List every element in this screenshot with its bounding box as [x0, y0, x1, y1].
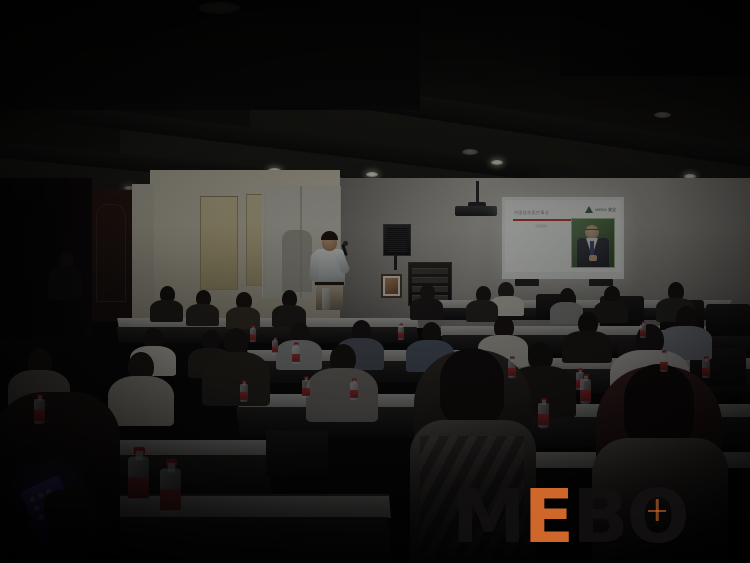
water-bottle-11: [660, 350, 668, 372]
water-bottle-foreground-1: [128, 447, 149, 504]
phone-app-icon-1: [29, 496, 36, 503]
speaker-grill-icon: [387, 228, 407, 252]
bottle-label: [160, 489, 181, 510]
water-bottle-8: [508, 356, 516, 378]
slide-content: 中国烧伤医疗事业 专题报告 MEBO 美宝: [505, 200, 621, 272]
portrait-glasses-icon: [585, 229, 599, 233]
projection-screen: 中国烧伤医疗事业 专题报告 MEBO 美宝: [502, 197, 624, 279]
picture-image: [385, 278, 398, 294]
glass-mullion: [300, 186, 302, 298]
rack-slot-2: [412, 277, 448, 283]
speaker-stand-bracket: [394, 254, 397, 270]
phone-app-icon-7: [37, 514, 44, 521]
bottle-label: [250, 334, 256, 340]
bottle-label: [702, 368, 710, 376]
bottle-label: [350, 390, 358, 398]
ceiling-downlight-9: [654, 112, 671, 118]
photo-canvas: 中国烧伤医疗事业 专题报告 MEBO 美宝: [0, 0, 750, 563]
ceiling-downlight-10: [462, 149, 478, 155]
slide-logo-text: MEBO 美宝: [595, 208, 616, 212]
audience-body-m7: [562, 331, 612, 363]
watermark: M E B O: [452, 478, 688, 556]
water-bottle-5: [240, 380, 248, 402]
water-bottle-15: [580, 374, 591, 404]
foreground-woman-hair: [440, 348, 504, 426]
audience-body-f6: [410, 298, 443, 320]
audience-body-l5: [48, 266, 82, 300]
left-dark-void: [0, 178, 92, 338]
audience-body-f4: [594, 301, 628, 323]
audience-body-n2: [108, 376, 174, 426]
water-bottle-4: [272, 338, 278, 355]
chair-7: [266, 430, 328, 476]
slide-subtitle: 专题报告: [535, 224, 547, 228]
bottle-label: [538, 414, 549, 425]
presenter-belt: [315, 282, 344, 285]
audience-body-l2: [186, 304, 219, 326]
water-bottle-7: [350, 378, 358, 400]
slide-title: 中国烧伤医疗事业: [514, 210, 549, 216]
bottle-label: [640, 330, 646, 336]
bottle-label: [272, 346, 278, 352]
slide-logo: MEBO 美宝: [585, 206, 616, 213]
water-bottle-1: [250, 326, 256, 343]
glass-reflection: [282, 230, 312, 292]
portrait-hand: [589, 255, 597, 261]
ceiling-projector: [455, 206, 497, 216]
water-bottle-3: [640, 322, 646, 339]
ceiling-downlight-3: [366, 172, 378, 177]
audience-body-n4: [306, 368, 378, 422]
triangle-logo-icon: [585, 206, 593, 213]
microphone-head-icon: [343, 241, 348, 246]
rack-slot-1: [412, 268, 448, 274]
watermark-cross-horizontal: [648, 510, 666, 513]
presenter-water-bottle: [322, 288, 330, 310]
bottle-label: [508, 368, 516, 376]
phone-app-icon-2: [37, 492, 44, 499]
audience-body-n3: [202, 352, 270, 406]
bottle-label: [398, 332, 404, 338]
screen-foot-right: [589, 279, 613, 286]
bottle-label: [580, 390, 591, 401]
bottle-label: [34, 410, 45, 421]
ceiling-right-dark: [560, 0, 750, 76]
water-bottle-foreground-2: [160, 459, 181, 516]
audience-body-f2: [466, 300, 498, 322]
wall-panel-left: [200, 196, 238, 290]
water-bottle-10: [292, 342, 300, 364]
wall-light-strip: [132, 184, 154, 324]
water-bottle-6: [302, 376, 310, 398]
watermark-letter-b: B: [572, 480, 626, 554]
phone-app-icon-4: [33, 505, 40, 512]
water-bottle-14: [538, 398, 549, 428]
water-bottle-12: [702, 356, 710, 378]
wall-speaker: [383, 224, 411, 256]
presenter-left-arm: [309, 253, 320, 282]
screen-foot-left: [515, 279, 539, 286]
audience-body-l1: [150, 300, 183, 322]
watermark-letter-o: O: [627, 480, 688, 554]
ceiling-downlight-13: [198, 2, 240, 14]
slide-portrait-photo: [571, 218, 615, 268]
door-panel-inset: [96, 204, 126, 302]
framed-wall-picture: [381, 274, 402, 298]
bottle-label: [292, 354, 300, 362]
ceiling-downlight-4: [491, 160, 503, 165]
water-bottle-2: [398, 324, 404, 341]
bottle-label: [302, 388, 310, 396]
bottle-label: [660, 362, 668, 370]
bottle-label: [240, 392, 248, 400]
foreground-woman-right-hair: [624, 364, 694, 448]
water-bottle-13: [34, 394, 45, 424]
watermark-letter-e: E: [524, 480, 573, 554]
portrait-tie: [590, 241, 594, 255]
watermark-letter-m: M: [452, 480, 524, 554]
chair-3: [706, 304, 750, 336]
ceiling-dark-void: [0, 0, 420, 110]
bottle-label: [128, 477, 149, 498]
